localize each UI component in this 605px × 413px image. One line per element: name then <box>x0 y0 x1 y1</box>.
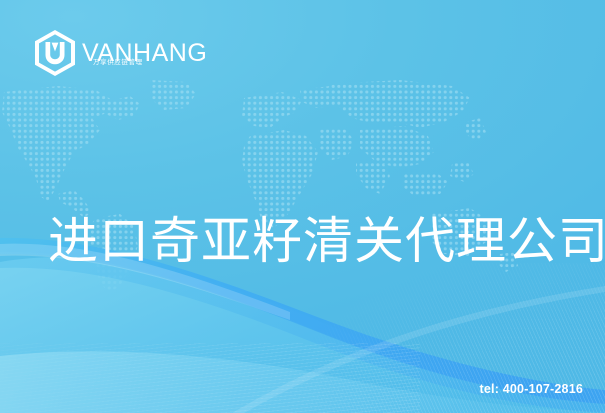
page-title: 进口奇亚籽清关代理公司 <box>48 212 605 270</box>
logo-text-block: VANHANG 万享供应链管理 <box>82 41 207 66</box>
logo-subtitle: 万享供应链管理 <box>93 58 143 66</box>
promo-banner: VANHANG 万享供应链管理 进口奇亚籽清关代理公司 tel: 400-107… <box>0 0 605 413</box>
hexagon-u-logo-icon <box>34 30 76 76</box>
brand-logo[interactable]: VANHANG 万享供应链管理 <box>34 30 207 76</box>
contact-phone[interactable]: tel: 400-107-2816 <box>480 381 583 397</box>
